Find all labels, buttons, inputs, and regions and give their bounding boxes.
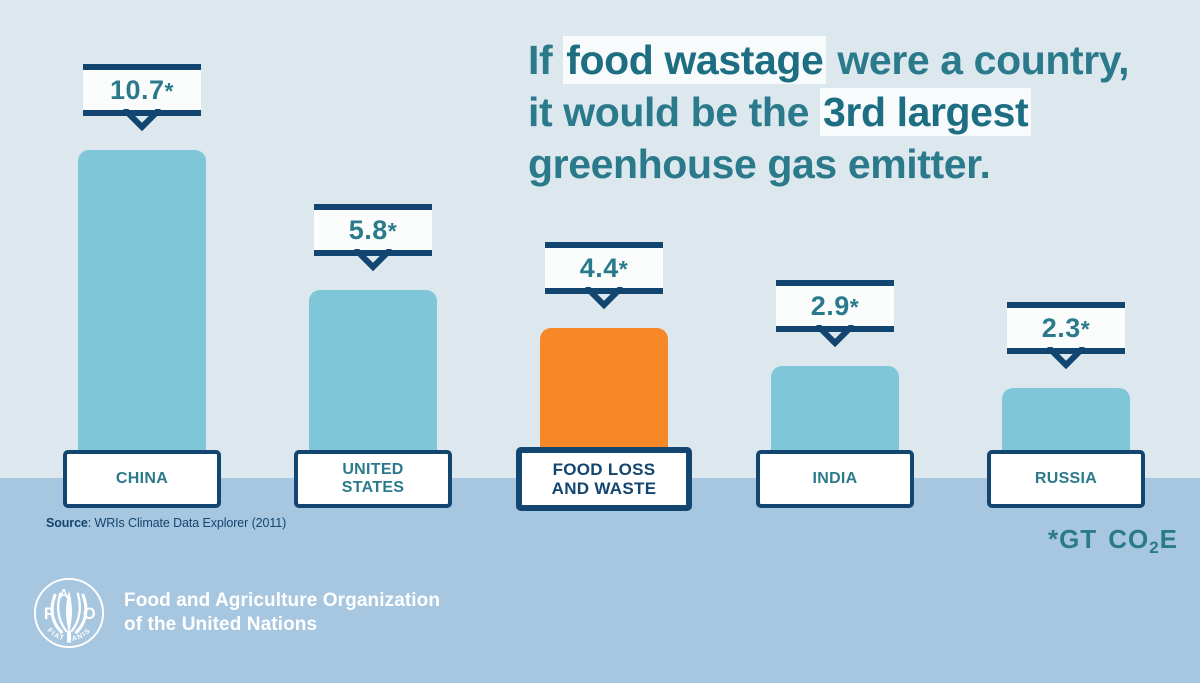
chart-column: 2.3*RUSSIA [970,0,1162,683]
category-label-plate[interactable]: RUSSIA [987,450,1145,508]
value-label: 2.3* [1042,315,1091,342]
value-number: 10.7 [110,75,165,105]
value-label: 4.4* [580,255,629,282]
value-number: 4.4 [580,253,619,283]
value-label: 2.9* [811,293,860,320]
chart-column: 4.4*FOOD LOSS AND WASTE [508,0,700,683]
fao-organization-name: Food and Agriculture Organization of the… [124,589,440,638]
infographic-canvas: If food wastage were a country, it would… [0,0,1200,683]
value-asterisk: * [850,294,859,320]
value-label: 10.7* [110,77,174,104]
svg-text:A: A [59,587,68,601]
source-text: : WRIs Climate Data Explorer (2011) [88,516,286,530]
category-label-plate[interactable]: FOOD LOSS AND WASTE [516,447,692,511]
callout-notch-icon [815,325,855,347]
svg-text:O: O [83,605,96,623]
source-note: Source: WRIs Climate Data Explorer (2011… [46,516,286,530]
category-label-text: INDIA [812,470,857,488]
value-number: 2.9 [811,291,850,321]
value-number: 5.8 [349,215,388,245]
category-label-plate[interactable]: INDIA [756,450,914,508]
value-asterisk: * [165,78,174,104]
unit-note-gt: GT [1059,524,1097,554]
value-callout-bubble: 10.7* [83,64,201,116]
value-callout: 10.7* [83,64,201,116]
value-callout-bubble: 2.3* [1007,302,1125,354]
fao-logo-block: F A O FIAT PANIS Food and Agriculture Or… [32,576,440,650]
svg-text:F: F [44,605,54,623]
callout-notch-icon [584,287,624,309]
value-asterisk: * [388,218,397,244]
fao-emblem-icon: F A O FIAT PANIS [32,576,106,650]
value-asterisk: * [1081,316,1090,342]
value-callout-bubble: 4.4* [545,242,663,294]
unit-note-asterisk: * [1048,524,1059,554]
unit-note-subscript: 2 [1149,538,1159,557]
source-label: Source [46,516,88,530]
callout-notch-icon [353,249,393,271]
unit-note-co: CO [1108,524,1149,554]
category-label-text: FOOD LOSS AND WASTE [552,460,657,498]
value-callout: 5.8* [314,204,432,256]
value-number: 2.3 [1042,313,1081,343]
category-label-text: RUSSIA [1035,470,1097,488]
category-label-plate[interactable]: UNITED STATES [294,450,452,508]
value-callout-bubble: 2.9* [776,280,894,332]
unit-note: *GTCO2E [1048,524,1178,555]
value-callout-bubble: 5.8* [314,204,432,256]
value-callout: 2.9* [776,280,894,332]
category-label-text: UNITED STATES [342,461,405,497]
callout-notch-icon [122,109,162,131]
bar[interactable] [78,150,206,478]
callout-notch-icon [1046,347,1086,369]
value-label: 5.8* [349,217,398,244]
chart-column: 2.9*INDIA [739,0,931,683]
value-asterisk: * [619,256,628,282]
category-label-text: CHINA [116,470,168,488]
value-callout: 4.4* [545,242,663,294]
unit-note-e: E [1160,524,1178,554]
category-label-plate[interactable]: CHINA [63,450,221,508]
value-callout: 2.3* [1007,302,1125,354]
